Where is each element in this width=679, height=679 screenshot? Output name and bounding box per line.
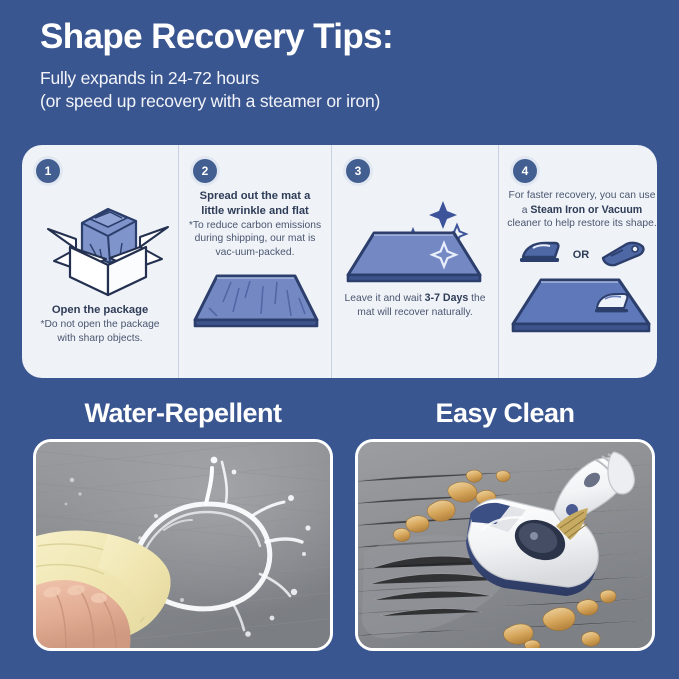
step-4-tools: Steam Iron or Vacuum	[530, 204, 642, 216]
step-3-text-pre: Leave it and wait	[345, 293, 425, 304]
step-1-title: Open the package	[30, 303, 170, 318]
page-title: Shape Recovery Tips:	[40, 18, 640, 57]
step-1-caption: Open the package *Do not open the packag…	[30, 303, 170, 345]
steps-card: 1	[22, 145, 657, 378]
or-label: OR	[573, 248, 590, 263]
subtitle-line-1: Fully expands in 24-72 hours	[40, 67, 640, 90]
step-1-note: *Do not open the package with sharp obje…	[30, 318, 170, 345]
steam-iron-icon	[517, 239, 563, 272]
feature-title: Easy Clean	[355, 398, 655, 429]
step-3-duration: 3-7 Days	[425, 292, 469, 304]
step-number-badge: 4	[513, 159, 537, 183]
step-number-badge: 3	[346, 159, 370, 183]
step-number-badge: 1	[36, 159, 60, 183]
step-4-caption: For faster recovery, you can use a Steam…	[507, 189, 657, 231]
sparkling-mat-illustration	[340, 187, 490, 287]
step-3: 3 Leave it and wait 3-7 Days the mat wil…	[331, 145, 498, 378]
step-2-caption: Spread out the mat a little wrinkle and …	[187, 189, 323, 260]
step-2-title: Spread out the mat a little wrinkle and …	[187, 189, 323, 219]
header: Shape Recovery Tips: Fully expands in 24…	[40, 18, 640, 113]
step-2: 2 Spread out the mat a little wrinkle an…	[178, 145, 331, 378]
step-1: 1	[22, 145, 178, 378]
vacuum-nozzle-icon	[599, 239, 647, 272]
feature-easy-clean: Easy Clean	[355, 398, 655, 651]
step-2-note: *To reduce carbon emissions during shipp…	[187, 219, 323, 260]
easy-clean-photo	[355, 439, 655, 651]
step-3-caption: Leave it and wait 3-7 Days the mat will …	[340, 291, 490, 319]
header-subtitle: Fully expands in 24-72 hours (or speed u…	[40, 67, 640, 113]
wrinkled-mat-illustration	[187, 268, 323, 334]
feature-water-repellent: Water-Repellent	[33, 398, 333, 651]
step-number-badge: 2	[193, 159, 217, 183]
subtitle-line-2: (or speed up recovery with a steamer or …	[40, 90, 640, 113]
tool-icons-row: OR	[517, 239, 648, 272]
box-illustration	[30, 181, 170, 299]
water-repellent-photo	[33, 439, 333, 651]
mat-with-iron-illustration	[507, 276, 657, 338]
step-3-text: Leave it and wait 3-7 Days the mat will …	[340, 291, 490, 319]
step-4-text-post: cleaner to help restore its shape.	[507, 218, 656, 229]
feature-title: Water-Repellent	[33, 398, 333, 429]
step-4: 4 For faster recovery, you can use a Ste…	[498, 145, 665, 378]
step-4-text: For faster recovery, you can use a Steam…	[507, 189, 657, 231]
